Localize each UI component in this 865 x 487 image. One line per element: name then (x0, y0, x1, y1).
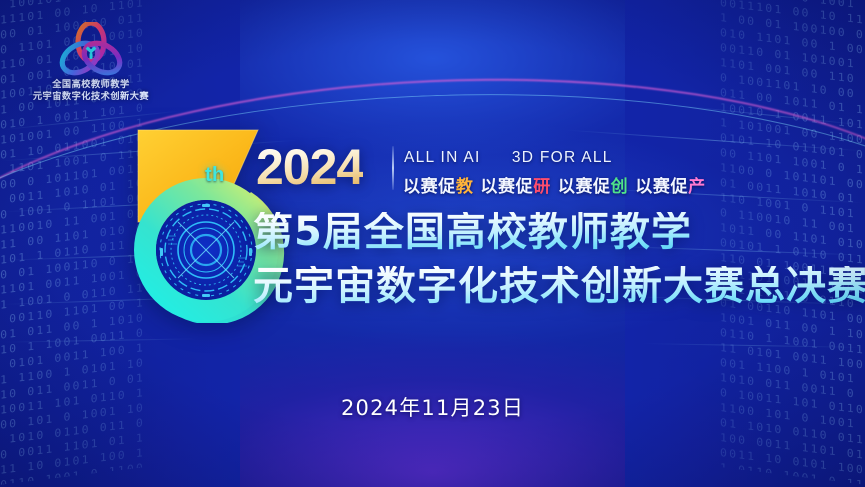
ordinal-suffix: th (205, 164, 224, 187)
slogan-accent-4: 产 (688, 177, 706, 197)
event-poster: 01 100101 0 1001 000011101 00 10 11011 0… (0, 0, 865, 487)
english-tagline-part1: ALL IN AI (404, 149, 481, 166)
event-date: 2024年11月23日 (0, 392, 865, 422)
vertical-divider (392, 146, 394, 190)
headline-line-1: 第5届全国高校教师教学 (253, 212, 692, 252)
slogan-segment-1: 以赛促教 (403, 172, 473, 197)
slogan-prefix-4: 以赛促 (635, 177, 688, 197)
chinese-slogan: 以赛促教以赛促研以赛促创以赛促产 (403, 172, 713, 197)
slogan-prefix-3: 以赛促 (558, 177, 611, 197)
slogan-prefix-2: 以赛促 (480, 177, 533, 197)
slogan-prefix-1: 以赛促 (403, 177, 456, 197)
english-tagline: ALL IN AI 3D FOR ALL (404, 149, 613, 167)
poster-content: th 2024 ALL IN AI 3D FOR ALL 以赛促教以赛促研以赛促… (0, 0, 865, 487)
slogan-segment-4: 以赛促产 (635, 172, 705, 197)
english-tagline-part2: 3D FOR ALL (512, 149, 613, 166)
slogan-segment-2: 以赛促研 (480, 172, 550, 197)
headline-line-2: 元宇宙数字化技术创新大赛总决赛 (253, 266, 865, 306)
slogan-segment-3: 以赛促创 (558, 172, 628, 197)
year-text: 2024 (256, 142, 363, 192)
slogan-accent-1: 教 (456, 177, 474, 197)
slogan-accent-2: 研 (533, 177, 551, 197)
slogan-accent-3: 创 (611, 177, 629, 197)
